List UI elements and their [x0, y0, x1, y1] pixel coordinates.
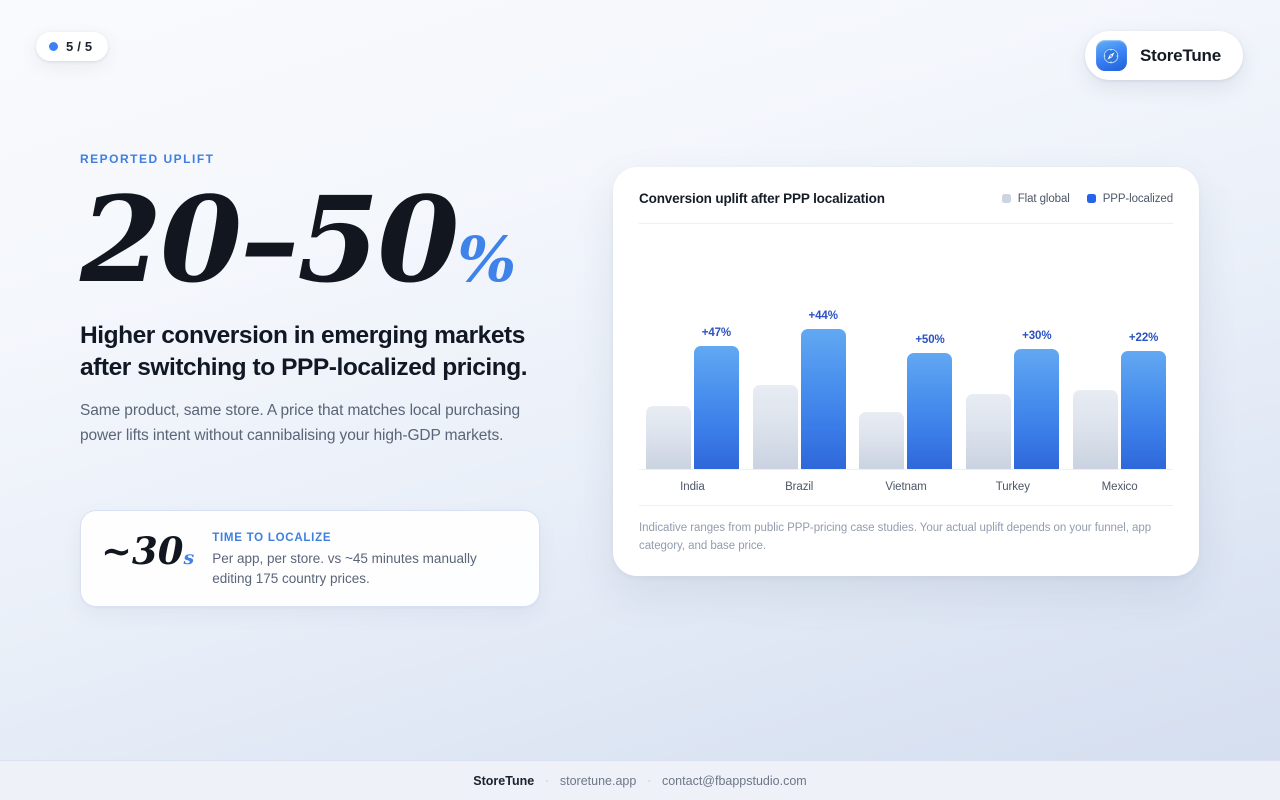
chart-footnote: Indicative ranges from public PPP-pricin…	[639, 520, 1173, 556]
bar-ppp-localized[interactable]: +30%	[1014, 349, 1059, 470]
brand-pill[interactable]: StoreTune	[1085, 31, 1243, 80]
chart-bar-groups: +47%+44%+50%+30%+22%	[639, 224, 1173, 470]
bar-value-label: +22%	[1129, 332, 1158, 344]
bar-flat-global[interactable]	[966, 394, 1011, 470]
chart-footnote-area: Indicative ranges from public PPP-pricin…	[639, 505, 1173, 556]
stat-label: TIME TO LOCALIZE	[212, 532, 512, 544]
bar-ppp-localized[interactable]: +47%	[694, 346, 739, 470]
page-footer: StoreTune · storetune.app · contact@fbap…	[0, 760, 1280, 800]
bar-ppp-localized[interactable]: +22%	[1121, 351, 1166, 470]
legend-label-flat-global: Flat global	[1018, 193, 1070, 205]
category-label-turkey: Turkey	[959, 481, 1066, 493]
bar-flat-global[interactable]	[1073, 390, 1118, 470]
hero-content: REPORTED UPLIFT 20–50% Higher conversion…	[80, 152, 550, 448]
hero-statistic: 20–50%	[80, 180, 550, 300]
footer-separator-1: ·	[545, 775, 549, 787]
compass-icon	[1096, 40, 1127, 71]
chart-group-turkey: +30%	[959, 224, 1066, 470]
footer-email-link[interactable]: contact@fbappstudio.com	[662, 774, 807, 788]
chart-group-india: +47%	[639, 224, 746, 470]
bar-value-label: +50%	[915, 334, 944, 346]
chart-legend: Flat global PPP-localized	[1002, 193, 1173, 205]
footer-brand: StoreTune	[473, 774, 534, 788]
category-label-vietnam: Vietnam	[853, 481, 960, 493]
bar-ppp-localized[interactable]: +44%	[801, 329, 846, 470]
footer-site-link[interactable]: storetune.app	[560, 774, 636, 788]
bar-flat-global[interactable]	[753, 385, 798, 470]
chart-group-vietnam: +50%	[853, 224, 960, 470]
chart-plot-area: +47%+44%+50%+30%+22% IndiaBrazilVietnamT…	[639, 224, 1173, 505]
legend-item-flat-global[interactable]: Flat global	[1002, 193, 1070, 205]
chart-axis-line	[639, 469, 1173, 470]
stat-text-block: TIME TO LOCALIZE Per app, per store. vs …	[212, 529, 512, 588]
bar-value-label: +47%	[702, 327, 731, 339]
chart-group-brazil: +44%	[746, 224, 853, 470]
stat-value: ~30s	[101, 529, 194, 572]
slide-counter-dot	[49, 42, 58, 51]
legend-item-ppp-localized[interactable]: PPP-localized	[1087, 193, 1173, 205]
hero-statistic-unit: %	[457, 223, 516, 296]
bar-flat-global[interactable]	[646, 406, 691, 470]
bar-value-label: +44%	[809, 310, 838, 322]
bar-value-label: +30%	[1022, 330, 1051, 342]
bar-flat-global[interactable]	[859, 412, 904, 470]
stat-value-unit: s	[184, 547, 195, 569]
hero-subcopy: Same product, same store. A price that m…	[80, 399, 525, 448]
category-label-brazil: Brazil	[746, 481, 853, 493]
slide-counter-badge: 5 / 5	[36, 32, 108, 61]
chart-title: Conversion uplift after PPP localization	[639, 191, 885, 206]
hero-statistic-number: 20–50	[80, 170, 457, 309]
bar-ppp-localized[interactable]: +50%	[907, 353, 952, 470]
chart-category-labels: IndiaBrazilVietnamTurkeyMexico	[639, 481, 1173, 493]
legend-swatch-ppp-localized	[1087, 194, 1096, 203]
legend-label-ppp-localized: PPP-localized	[1103, 193, 1173, 205]
page-title: Higher conversion in emerging markets af…	[80, 320, 540, 384]
stat-description: Per app, per store. vs ~45 minutes manua…	[212, 549, 512, 588]
chart-panel: Conversion uplift after PPP localization…	[613, 167, 1199, 576]
stat-value-number: ~30	[101, 529, 184, 573]
time-to-localize-card: ~30s TIME TO LOCALIZE Per app, per store…	[80, 510, 540, 607]
eyebrow-label: REPORTED UPLIFT	[80, 152, 550, 166]
chart-header: Conversion uplift after PPP localization…	[639, 191, 1173, 224]
slide-counter-label: 5 / 5	[66, 39, 92, 54]
category-label-india: India	[639, 481, 746, 493]
chart-group-mexico: +22%	[1066, 224, 1173, 470]
legend-swatch-flat-global	[1002, 194, 1011, 203]
brand-name: StoreTune	[1140, 46, 1221, 66]
footer-separator-2: ·	[647, 775, 651, 787]
category-label-mexico: Mexico	[1066, 481, 1173, 493]
